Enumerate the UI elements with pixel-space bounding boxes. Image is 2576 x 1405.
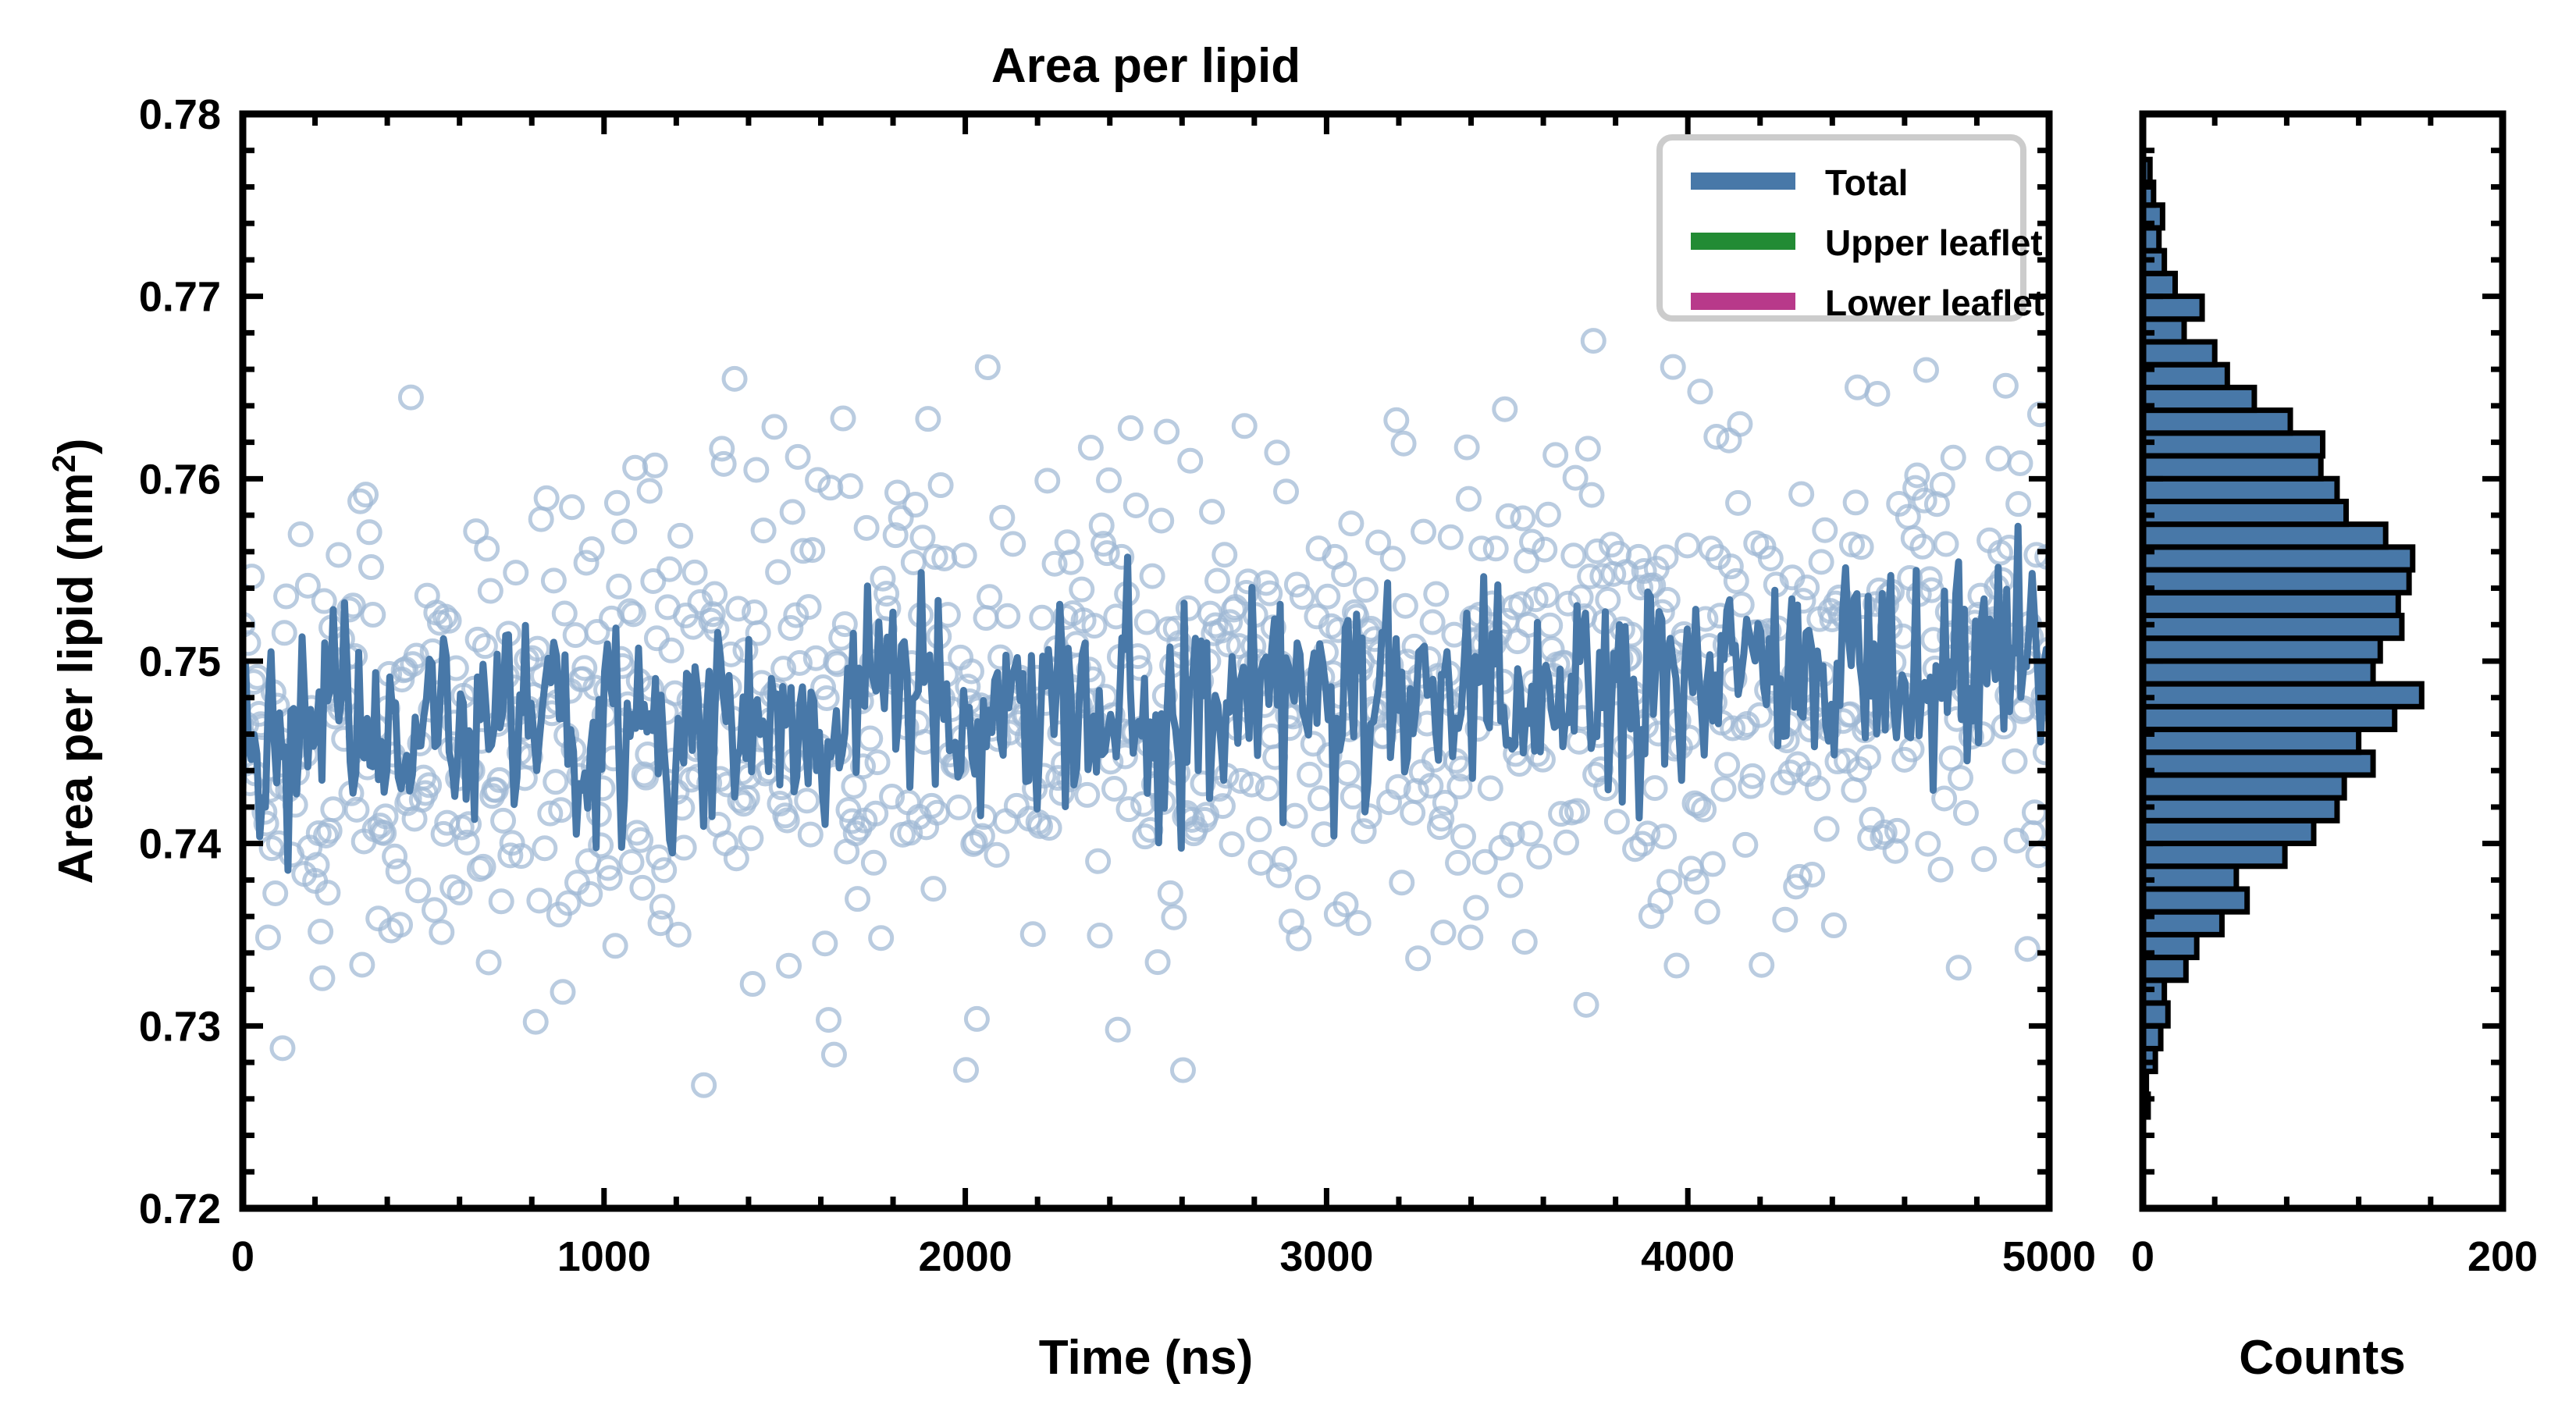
figure-root: 010002000300040005000 0.720.730.740.750.… xyxy=(0,0,2576,1405)
histogram-bar xyxy=(2143,752,2373,775)
x-tick-label: 5000 xyxy=(2002,1233,2096,1280)
histogram-x-axis-label: Counts xyxy=(2239,1331,2406,1385)
y-tick-label: 0.77 xyxy=(139,274,221,321)
y-tick-label: 0.75 xyxy=(139,638,221,685)
chart-title: Area per lipid xyxy=(991,39,1300,93)
histogram-bar xyxy=(2143,592,2398,615)
histogram-bar xyxy=(2143,889,2247,912)
legend-label[interactable]: Upper leaflet xyxy=(1825,222,2043,263)
y-tick-label: 0.72 xyxy=(139,1186,221,1232)
histogram-bar xyxy=(2143,297,2202,319)
histogram-bar xyxy=(2143,615,2402,638)
histogram-bar xyxy=(2143,411,2290,433)
histogram-bar xyxy=(2143,866,2236,889)
histogram-bar xyxy=(2143,638,2380,661)
legend-swatch xyxy=(1691,173,1795,190)
histogram-bar xyxy=(2143,958,2186,980)
histogram-bar xyxy=(2143,456,2321,478)
x-tick-label: 1000 xyxy=(557,1233,651,1280)
legend-label[interactable]: Lower leaflet xyxy=(1825,283,2044,323)
y-tick-label: 0.73 xyxy=(139,1003,221,1050)
x-tick-label: 0 xyxy=(231,1233,254,1280)
legend-swatch xyxy=(1691,233,1795,250)
y-axis-label: Area per lipid (nm2) xyxy=(45,438,103,884)
area-per-lipid-figure: 010002000300040005000 0.720.730.740.750.… xyxy=(0,0,2576,1405)
x-tick-label: 2000 xyxy=(919,1233,1012,1280)
histogram-bar xyxy=(2143,433,2323,456)
histogram-bar xyxy=(2143,478,2337,501)
y-tick-label: 0.78 xyxy=(139,91,221,138)
y-tick-label: 0.76 xyxy=(139,456,221,503)
histogram-bar xyxy=(2143,365,2227,387)
legend-swatch xyxy=(1691,293,1795,310)
x-axis-label: Time (ns) xyxy=(1039,1331,1253,1385)
histogram-bar xyxy=(2143,820,2314,843)
histogram-bar xyxy=(2143,844,2285,866)
histogram-x-tick-label: 200 xyxy=(2467,1233,2538,1280)
histogram-bar xyxy=(2143,730,2359,752)
y-axis-label-text: Area per lipid (nm xyxy=(49,472,103,884)
histogram-bar xyxy=(2143,387,2254,410)
histogram-bar xyxy=(2143,798,2337,820)
histogram-bar xyxy=(2143,1003,2168,1026)
x-tick-label: 4000 xyxy=(1641,1233,1735,1280)
y-tick-label: 0.74 xyxy=(139,821,221,868)
histogram-bar xyxy=(2143,775,2344,798)
histogram-bar xyxy=(2143,342,2215,365)
x-tick-label: 3000 xyxy=(1279,1233,1373,1280)
histogram-x-tick-label: 0 xyxy=(2131,1233,2154,1280)
histogram-bar xyxy=(2143,706,2395,729)
histogram-bar xyxy=(2143,684,2421,706)
histogram-bar xyxy=(2143,501,2346,524)
legend-label[interactable]: Total xyxy=(1825,162,1908,203)
histogram-bar xyxy=(2143,570,2409,592)
legend[interactable]: TotalUpper leafletLower leaflet xyxy=(1660,137,2044,323)
histogram-bar xyxy=(2143,661,2373,684)
histogram-bar xyxy=(2143,547,2413,570)
histogram-bar xyxy=(2143,273,2175,296)
histogram-panel: 0200 Counts xyxy=(2131,114,2538,1385)
histogram-bar xyxy=(2143,525,2386,547)
histogram-bar xyxy=(2143,912,2222,934)
